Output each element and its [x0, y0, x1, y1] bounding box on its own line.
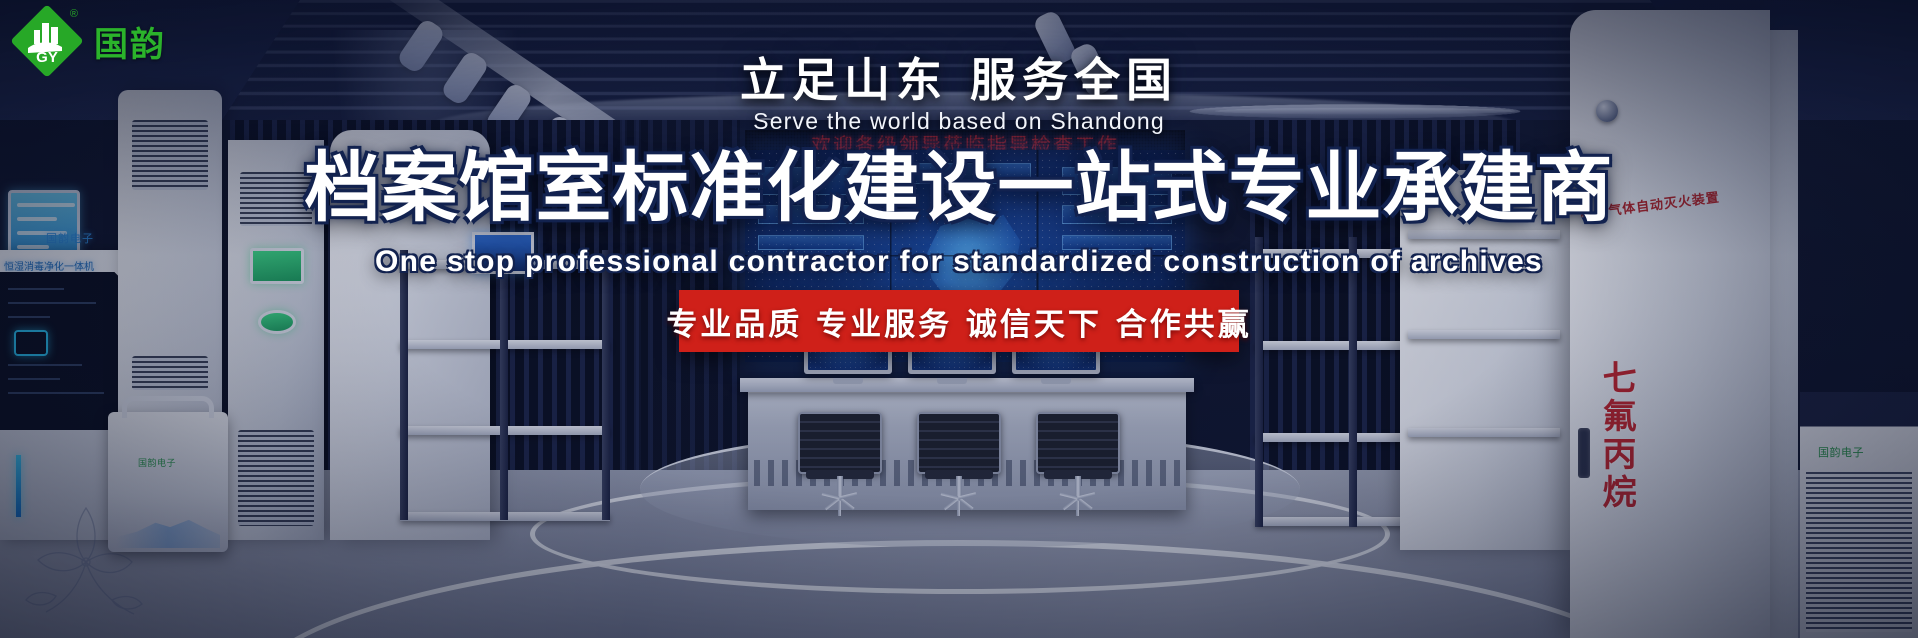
air-handler-grille — [132, 356, 208, 390]
right-floor-unit: 国韵电子 — [1800, 392, 1918, 638]
cart-brand-label: 国韵电子 — [138, 456, 176, 469]
right-unit-grille — [1806, 472, 1912, 632]
console-desk-top — [740, 378, 1194, 392]
fire-agent-label: 七氟丙烷 — [1596, 360, 1636, 512]
logo-mark-text: GY — [36, 49, 58, 66]
mobile-dehumidifier-cart: 国韵电子 — [108, 412, 228, 552]
equipment-model-label: 恒湿消毒净化一体机 — [4, 258, 94, 273]
pressure-gauge-icon — [1596, 100, 1618, 122]
gy-diamond-logo-icon: GY ® — [14, 8, 80, 74]
hero-headline-cn: 档案馆室标准化建设一站式专业承建商 — [305, 150, 1614, 226]
monitor-stand — [937, 378, 967, 384]
ac-display-panel — [250, 248, 304, 284]
hero-slogan-banner: 专业品质 专业服务 诚信天下 合作共赢 — [679, 290, 1239, 352]
ceiling-fan-blade — [1211, 108, 1518, 115]
monitor-stand — [1041, 378, 1071, 384]
ac-grille — [238, 430, 314, 526]
monitor-stand — [833, 378, 863, 384]
decorative-horse-graphic — [116, 512, 220, 548]
gas-fire-suppression-cabinet: 柜式气体自动灭火装置 七氟丙烷 — [1570, 10, 1770, 638]
cabinet-handle — [1578, 428, 1590, 478]
air-handler-grille — [132, 120, 208, 190]
right-unit-brand-label: 国韵电子 — [1818, 444, 1864, 460]
hero-kicker-cn: 立足山东 服务全国 — [740, 44, 1178, 110]
hero-kicker-en: Serve the world based on Shandong — [753, 108, 1165, 135]
cart-handle — [122, 396, 214, 418]
ac-grille — [240, 172, 312, 226]
hero-banner: 欢迎各级领导莅临指导检查工作 — [0, 0, 1918, 638]
brand-name: 国韵 — [94, 17, 166, 66]
hero-slogan-text: 专业品质 专业服务 诚信天下 合作共赢 — [666, 299, 1251, 344]
office-chair — [792, 412, 888, 516]
ac-indicator-icon — [258, 310, 296, 334]
hero-headline-en: One stop professional contractor for sta… — [375, 245, 1543, 279]
registered-trademark-icon: ® — [70, 8, 78, 20]
office-chair — [911, 412, 1007, 516]
site-logo[interactable]: GY ® 国韵 — [14, 8, 166, 74]
equipment-brand-label: 国韵电子 — [46, 230, 94, 246]
equipment-chip-icon — [14, 330, 48, 356]
office-chair — [1030, 412, 1126, 516]
